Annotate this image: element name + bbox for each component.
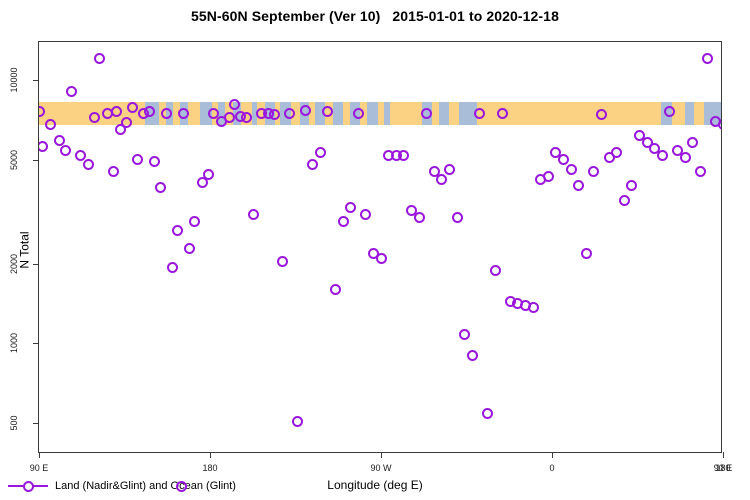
- data-point: [60, 145, 71, 156]
- data-point: [436, 174, 447, 185]
- land-segment: [343, 102, 350, 125]
- data-point: [172, 225, 183, 236]
- data-point: [543, 171, 554, 182]
- data-point: [680, 152, 691, 163]
- data-point: [657, 150, 668, 161]
- land-segment: [390, 102, 422, 125]
- data-point: [161, 108, 172, 119]
- data-point: [144, 106, 155, 117]
- x-axis-tick-label: 0: [522, 458, 582, 476]
- data-point: [248, 209, 259, 220]
- data-point: [702, 53, 713, 64]
- data-point: [611, 147, 622, 158]
- data-point: [307, 159, 318, 170]
- data-point: [132, 154, 143, 165]
- data-point: [178, 108, 189, 119]
- data-point: [459, 329, 470, 340]
- legend-overlap-circle-icon: [176, 481, 187, 492]
- data-point: [39, 141, 48, 152]
- data-point: [167, 262, 178, 273]
- data-point: [718, 119, 722, 130]
- data-point: [66, 86, 77, 97]
- data-point: [330, 284, 341, 295]
- data-point: [345, 202, 356, 213]
- data-point: [452, 212, 463, 223]
- data-point: [184, 243, 195, 254]
- data-point: [121, 117, 132, 128]
- x-axis-tick-label: 180: [180, 458, 240, 476]
- y-axis-tick-label: 500: [0, 418, 29, 428]
- data-point: [108, 166, 119, 177]
- chart-title: 55N-60N September (Ver 10) 2015-01-01 to…: [0, 8, 750, 24]
- data-point: [421, 108, 432, 119]
- legend: Land (Nadir&Glint) and Ocean (Glint): [8, 480, 236, 492]
- data-point: [292, 416, 303, 427]
- y-axis-tick-label: 10000: [0, 75, 29, 85]
- data-point: [155, 182, 166, 193]
- data-point: [360, 209, 371, 220]
- data-point: [588, 166, 599, 177]
- data-point: [94, 53, 105, 64]
- data-point: [497, 108, 508, 119]
- data-point: [203, 169, 214, 180]
- y-axis-tick: [33, 423, 39, 424]
- data-point: [695, 166, 706, 177]
- data-point: [353, 108, 364, 119]
- data-point: [149, 156, 160, 167]
- plot-canvas: [39, 42, 721, 452]
- plot-frame: 5001000200050001000090 E18090 W090 E180: [38, 41, 722, 453]
- data-point: [277, 256, 288, 267]
- y-axis-tick-label: 1000: [0, 338, 29, 348]
- land-segment: [694, 102, 704, 125]
- data-point: [83, 159, 94, 170]
- data-point: [189, 216, 200, 227]
- data-point: [467, 350, 478, 361]
- x-axis-tick-label: 90 W: [351, 458, 411, 476]
- data-point: [490, 265, 501, 276]
- land-segment: [378, 102, 384, 125]
- data-point: [315, 147, 326, 158]
- data-point: [376, 253, 387, 264]
- data-point: [482, 408, 493, 419]
- data-point: [566, 164, 577, 175]
- data-point: [619, 195, 630, 206]
- y-axis-tick: [33, 343, 39, 344]
- land-segment: [432, 102, 439, 125]
- data-point: [45, 119, 56, 130]
- legend-circle-icon: [23, 481, 34, 492]
- y-axis-tick: [33, 264, 39, 265]
- data-point: [687, 137, 698, 148]
- legend-label: Land (Nadir&Glint) and Ocean (Glint): [55, 480, 236, 492]
- land-segment: [188, 102, 200, 125]
- y-axis-tick-label: 5000: [0, 155, 29, 165]
- data-point: [338, 216, 349, 227]
- data-point: [398, 150, 409, 161]
- data-point: [573, 180, 584, 191]
- data-point: [224, 112, 235, 123]
- x-axis-tick-label: 180: [693, 458, 750, 476]
- y-axis-tick: [33, 80, 39, 81]
- data-point: [626, 180, 637, 191]
- data-point: [127, 102, 138, 113]
- data-point: [558, 154, 569, 165]
- x-axis-tick-label: 90 E: [9, 458, 69, 476]
- y-axis-tick-label: 2000: [0, 259, 29, 269]
- data-point: [300, 105, 311, 116]
- data-point: [414, 212, 425, 223]
- data-point: [444, 164, 455, 175]
- land-segment: [449, 102, 459, 125]
- legend-marker-sample: [8, 481, 48, 492]
- data-point: [581, 248, 592, 259]
- y-axis-tick: [33, 160, 39, 161]
- scatter-plot-figure: 55N-60N September (Ver 10) 2015-01-01 to…: [0, 0, 750, 500]
- data-point: [528, 302, 539, 313]
